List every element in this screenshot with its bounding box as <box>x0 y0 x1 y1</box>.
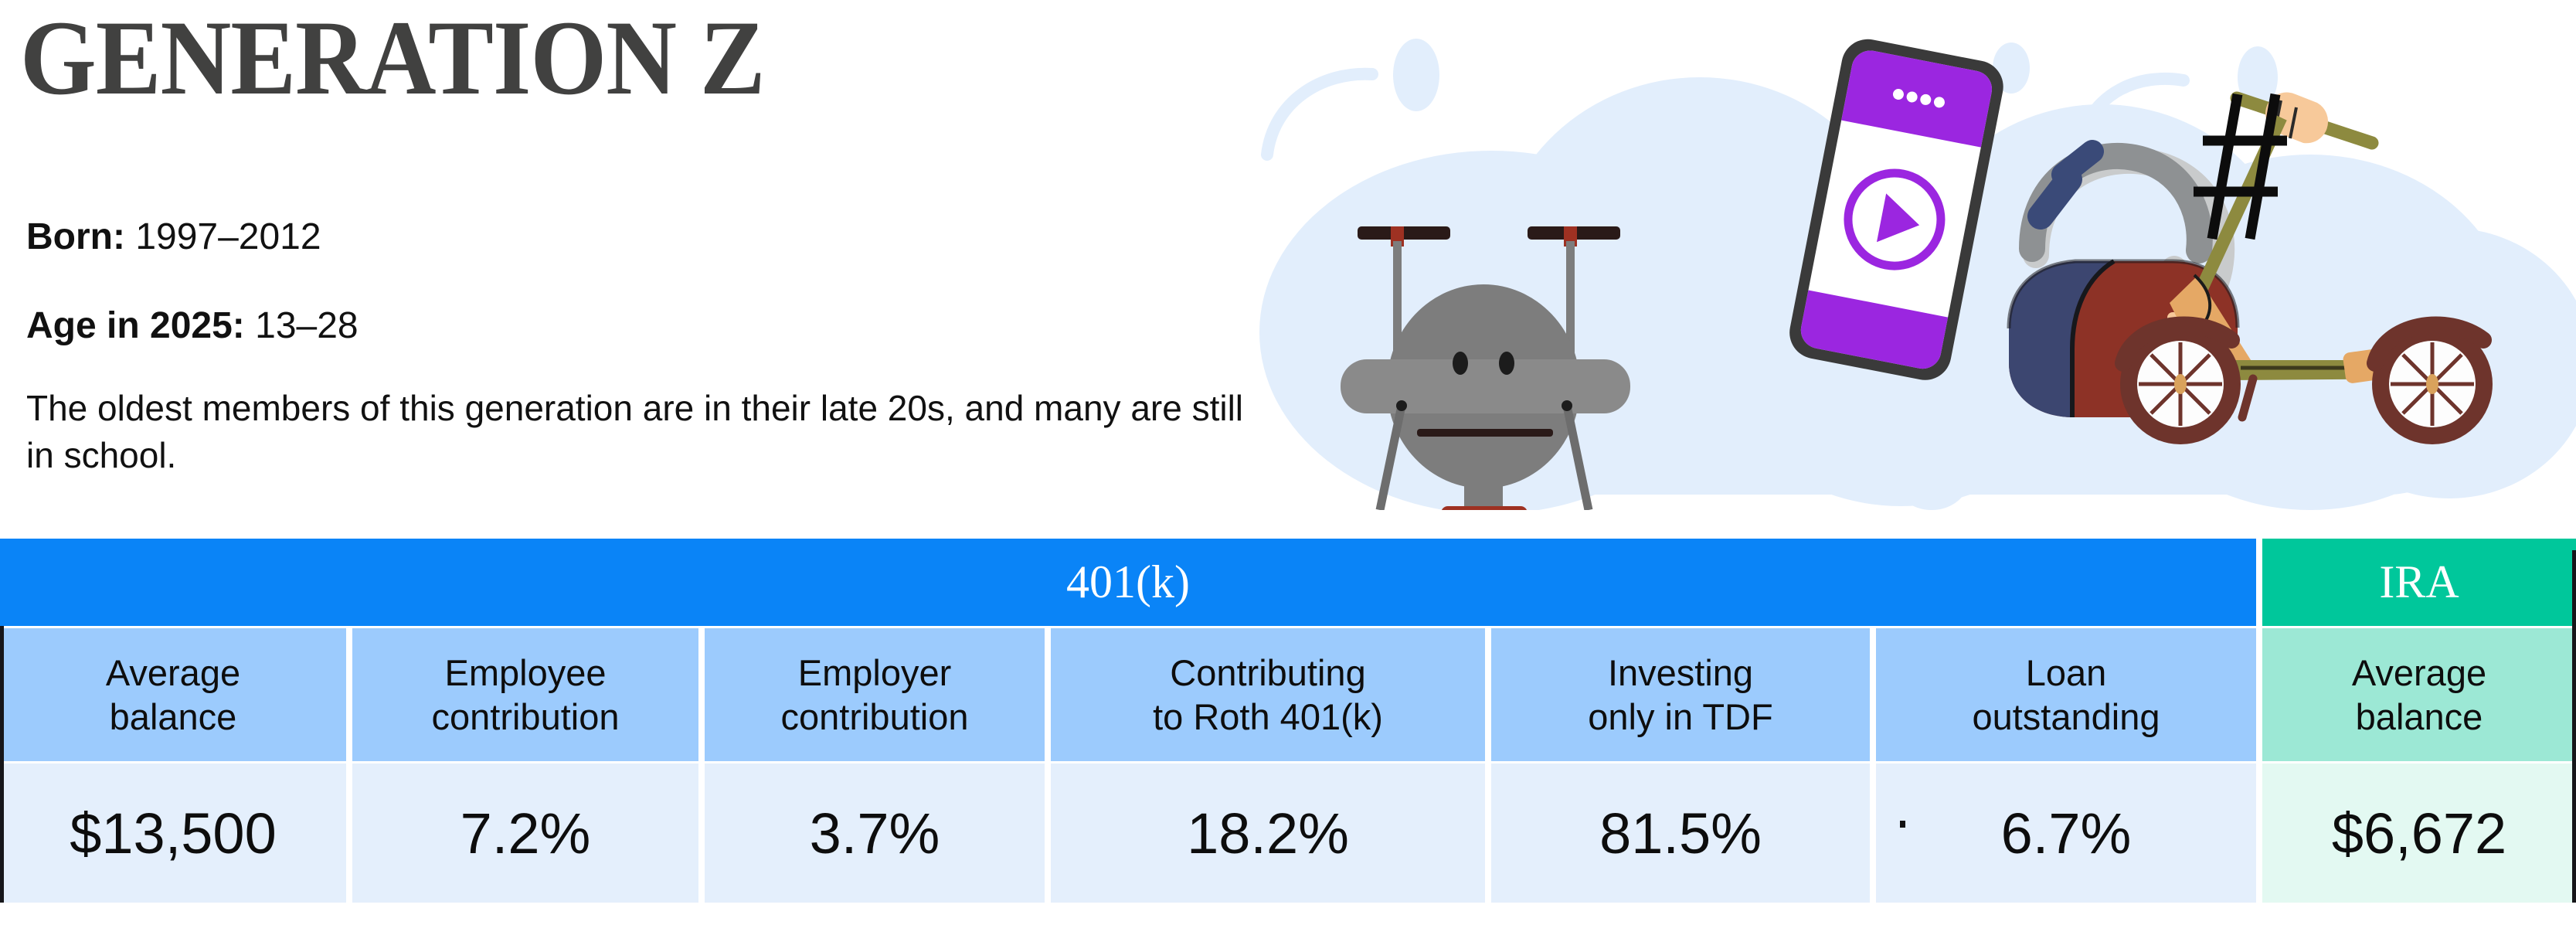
infographic-panel: GENERATION Z Born: 1997–2012 Age in 2025… <box>0 0 2576 925</box>
value-employee-contribution: 7.2% <box>352 763 698 903</box>
column-header-line1: Loan <box>2026 651 2107 695</box>
fact-born-value: 1997–2012 <box>135 216 321 257</box>
fact-born-label: Born: <box>26 216 125 257</box>
value-loan-outstanding: 6.7% <box>1876 763 2256 903</box>
column-header-line1: Investing <box>1608 651 1753 695</box>
column-header-line2: balance <box>110 695 237 739</box>
column-header-line1: Employee <box>445 651 607 695</box>
generation-illustration <box>1236 0 2576 510</box>
table-right-rule <box>2572 550 2576 903</box>
column-header-line2: contribution <box>781 695 969 739</box>
column-header-loan-outstanding: Loan outstanding <box>1876 628 2256 761</box>
column-header-line2: outstanding <box>1972 695 2160 739</box>
fact-age-label: Age in 2025: <box>26 305 245 346</box>
column-header-line2: only in TDF <box>1588 695 1772 739</box>
column-header-employee-contribution: Employee contribution <box>352 628 698 761</box>
column-header-line2: contribution <box>432 695 620 739</box>
column-header-line1: Employer <box>798 651 952 695</box>
column-header-line2: balance <box>2356 695 2483 739</box>
column-header-contributing-roth: Contributing to Roth 401(k) <box>1051 628 1485 761</box>
fact-age: Age in 2025: 13–28 <box>26 306 359 347</box>
column-header-line1: Average <box>106 651 240 695</box>
value-contributing-roth: 18.2% <box>1051 763 1485 903</box>
table-group-header-ira: IRA <box>2262 539 2576 626</box>
column-header-line1: Contributing <box>1170 651 1365 695</box>
column-header-employer-contribution: Employer contribution <box>705 628 1045 761</box>
column-header-average-balance-401k: Average balance <box>0 628 346 761</box>
column-header-investing-tdf: Investing only in TDF <box>1491 628 1870 761</box>
page-title: GENERATION Z <box>20 5 765 111</box>
fact-born: Born: 1997–2012 <box>26 217 321 258</box>
ink-speck-artifact <box>1900 821 1905 828</box>
value-employer-contribution: 3.7% <box>705 763 1045 903</box>
value-average-balance-ira: $6,672 <box>2262 763 2576 903</box>
value-investing-tdf: 81.5% <box>1491 763 1870 903</box>
retirement-stats-table: 401(k) IRA Average balance Employee cont… <box>0 539 2576 903</box>
table-left-rule <box>0 626 4 903</box>
generation-description: The oldest members of this generation ar… <box>26 385 1263 478</box>
column-header-line1: Average <box>2352 651 2486 695</box>
value-average-balance-401k: $13,500 <box>0 763 346 903</box>
column-header-average-balance-ira: Average balance <box>2262 628 2576 761</box>
table-group-header-401k: 401(k) <box>0 539 2256 626</box>
column-header-line2: to Roth 401(k) <box>1153 695 1383 739</box>
fact-age-value: 13–28 <box>255 305 358 346</box>
